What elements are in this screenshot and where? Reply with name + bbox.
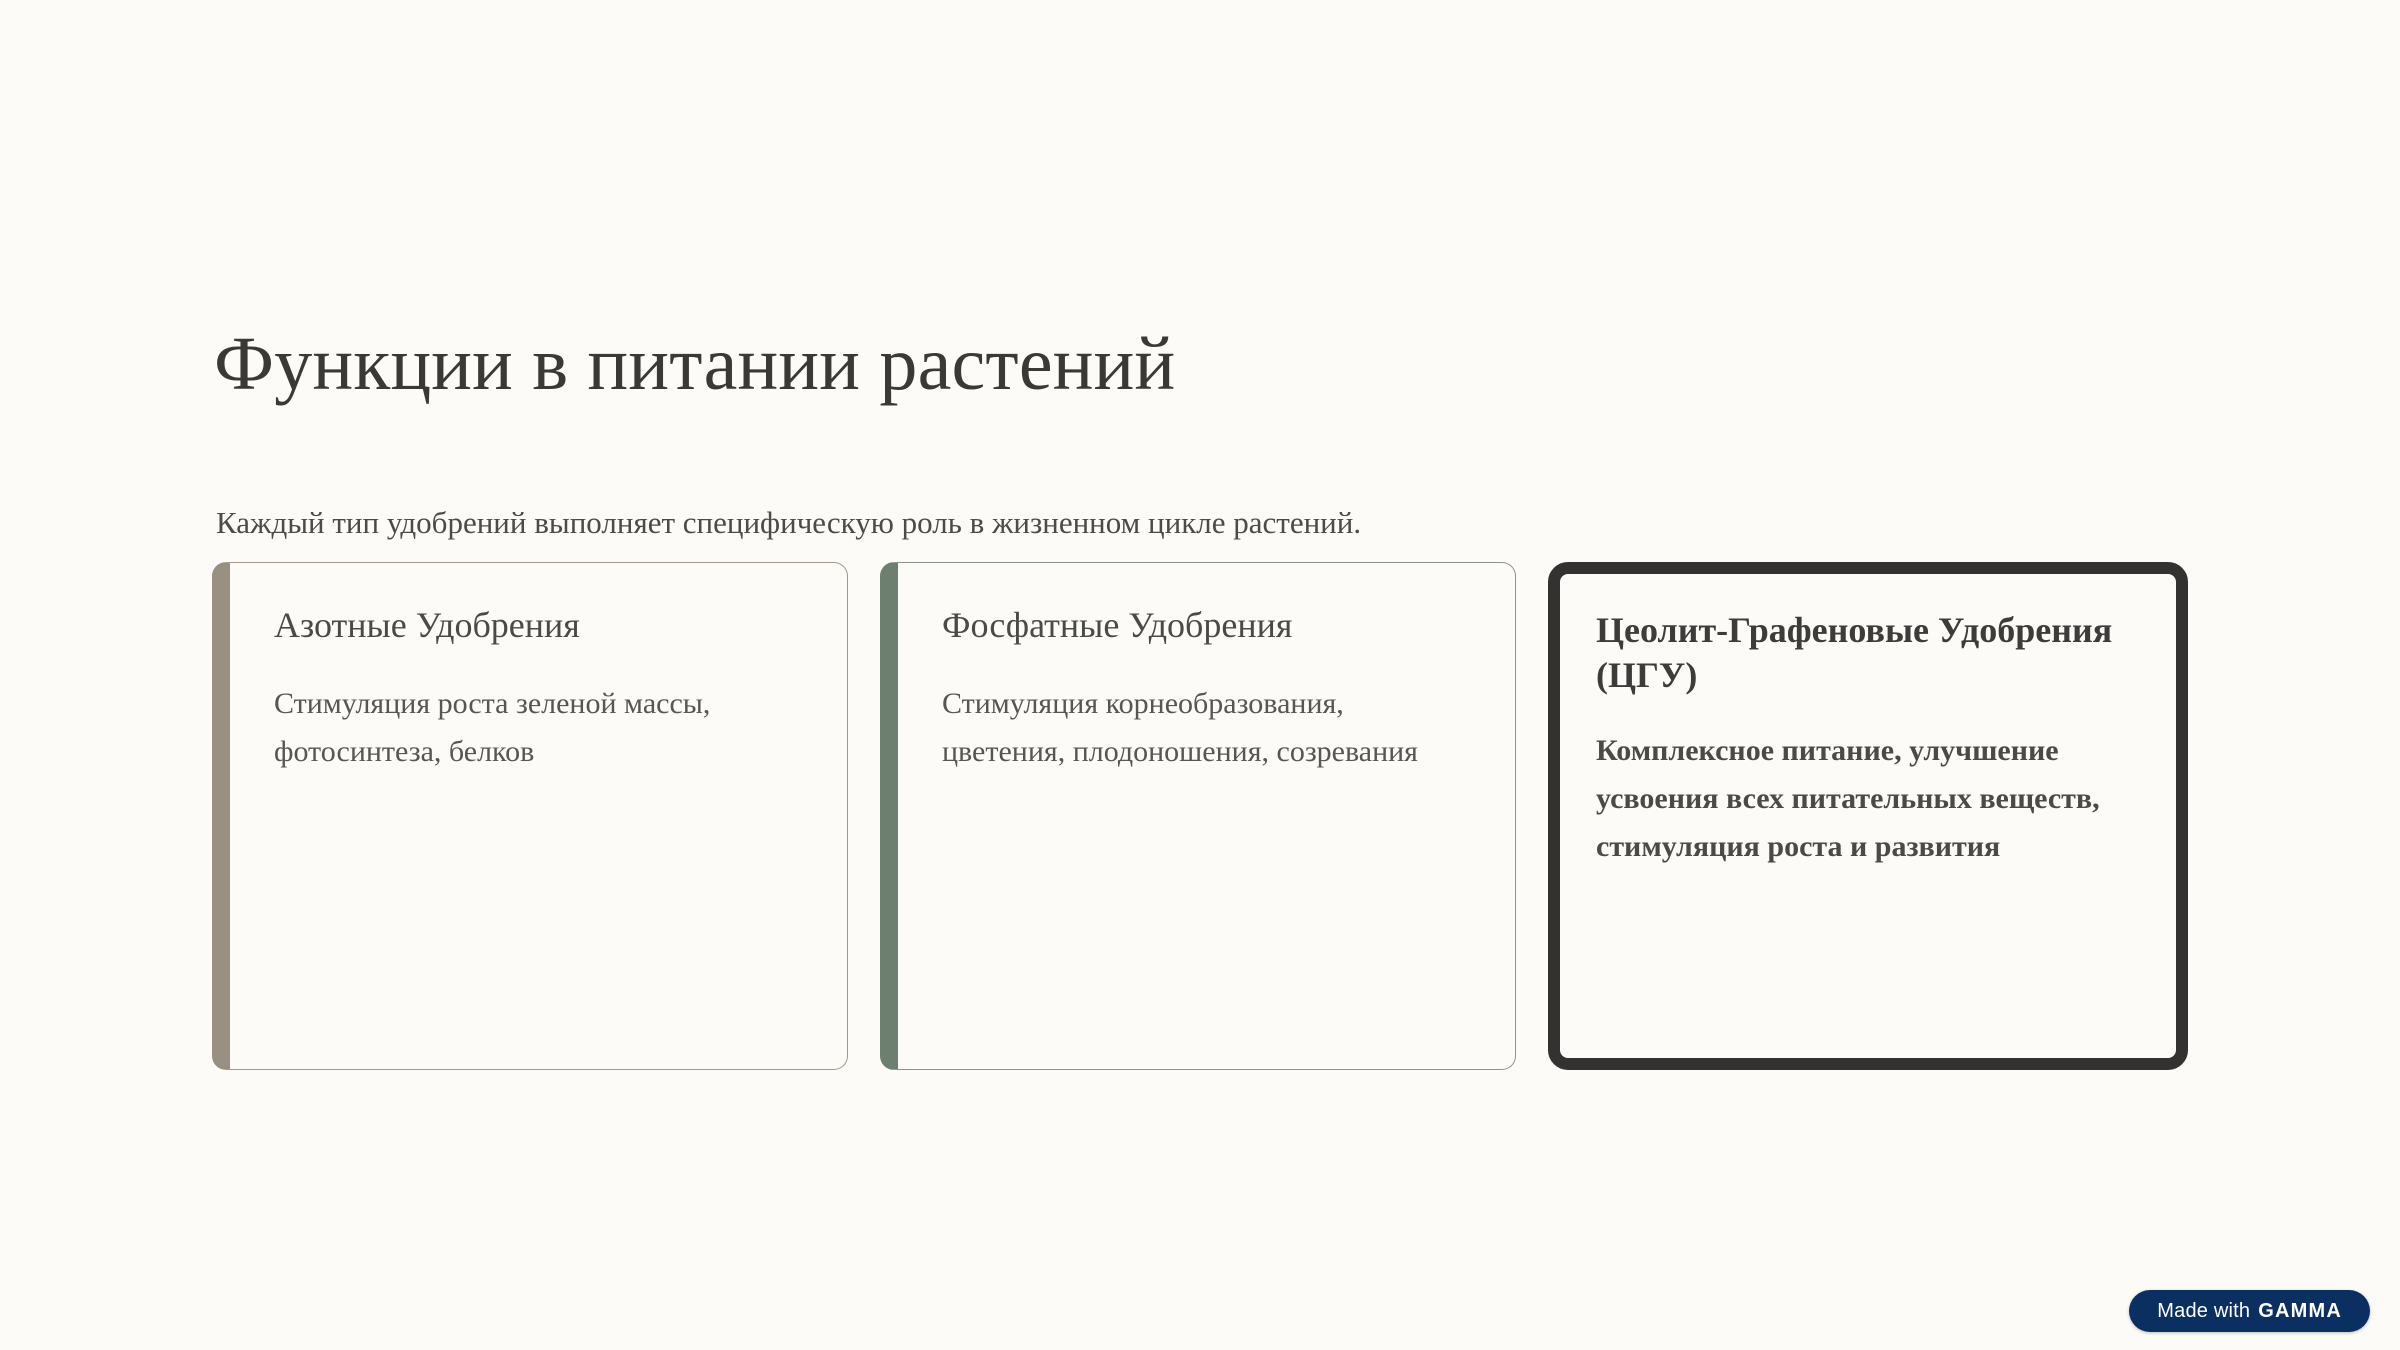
made-with-gamma-badge[interactable]: Made with GAMMA <box>2129 1290 2370 1332</box>
gamma-brand-label: GAMMA <box>2258 1300 2342 1323</box>
badge-prefix-label: Made with <box>2157 1300 2250 1323</box>
card-title: Цеолит-Графеновые Удобрения (ЦГУ) <box>1596 608 2136 697</box>
fertilizer-card-row: Азотные Удобрения Стимуляция роста зелен… <box>212 562 2188 1070</box>
card-body: Стимуляция корнеобразования, цветения, п… <box>942 680 1471 776</box>
card-title: Фосфатные Удобрения <box>942 603 1471 648</box>
card-nitrogen-fertilizers[interactable]: Азотные Удобрения Стимуляция роста зелен… <box>212 562 848 1070</box>
slide-canvas: Функции в питании растений Каждый тип уд… <box>0 0 2400 1350</box>
page-title: Функции в питании растений <box>214 323 1175 407</box>
card-zeolite-graphene-fertilizers[interactable]: Цеолит-Графеновые Удобрения (ЦГУ) Компле… <box>1548 562 2188 1070</box>
card-body: Стимуляция роста зеленой массы, фотосинт… <box>274 680 803 776</box>
page-subtitle: Каждый тип удобрений выполняет специфиче… <box>216 501 1361 546</box>
card-phosphate-fertilizers[interactable]: Фосфатные Удобрения Стимуляция корнеобра… <box>880 562 1516 1070</box>
card-body: Комплексное питание, улучшение усвоения … <box>1596 727 2136 871</box>
card-title: Азотные Удобрения <box>274 603 803 648</box>
